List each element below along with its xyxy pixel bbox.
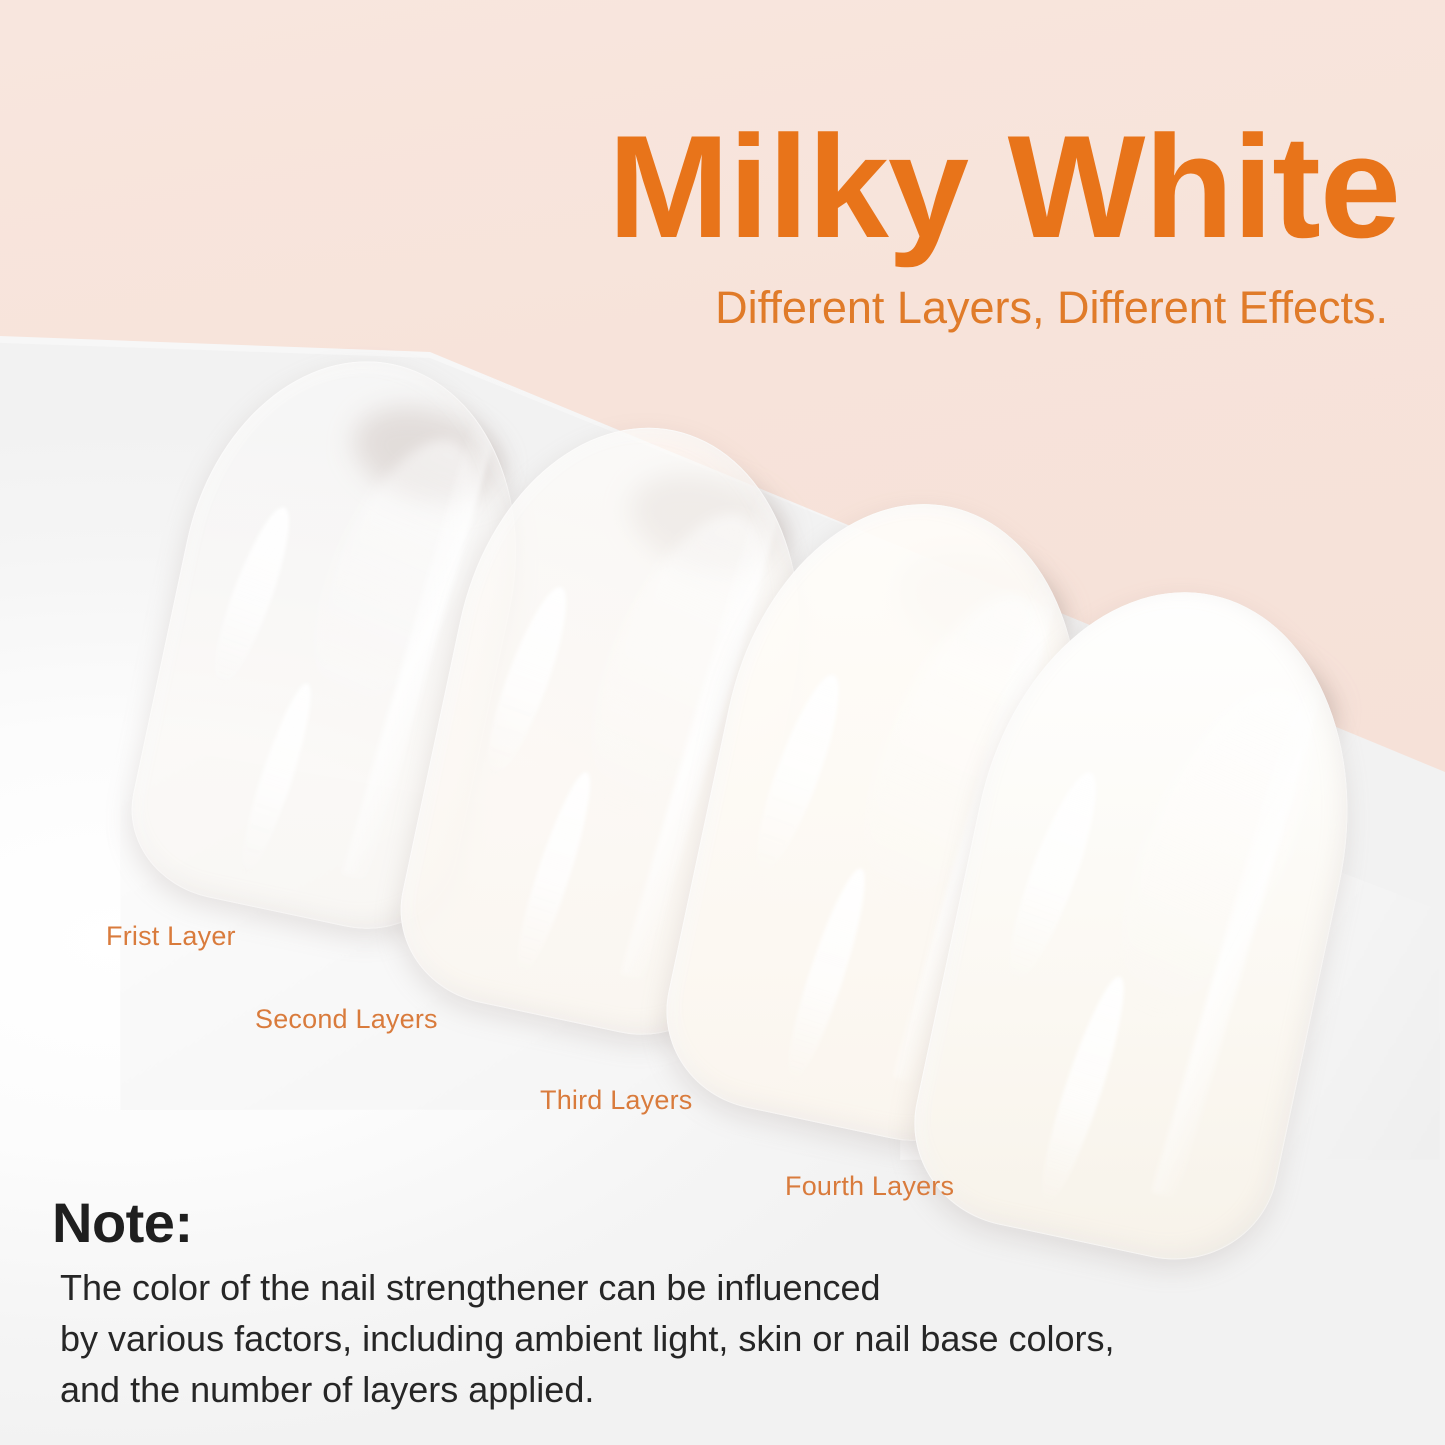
nail-edge-sheen-4 — [1152, 654, 1331, 1199]
layer-label-third: Third Layers — [540, 1085, 692, 1116]
layer-label-first: Frist Layer — [106, 921, 236, 952]
nail-gloss-highlight-2a — [474, 581, 580, 783]
nail-gloss-soft-4 — [1082, 663, 1349, 1038]
nail-gloss-highlight-1a — [201, 501, 302, 693]
note-heading: Note: — [52, 1190, 193, 1255]
nail-gloss-highlight-4a — [994, 765, 1111, 989]
nail-gloss-highlight-3b — [775, 864, 877, 1088]
nail-swatch-stage — [0, 0, 1445, 1445]
nail-gloss-highlight-3a — [742, 668, 853, 880]
layer-label-fourth: Fourth Layers — [785, 1171, 954, 1202]
nail-gloss-highlight-1b — [231, 679, 321, 878]
nail-gloss-highlight-4b — [1028, 971, 1136, 1210]
layer-label-second: Second Layers — [255, 1004, 438, 1035]
nail-gloss-highlight-2b — [505, 767, 602, 981]
product-infographic: Milky White Different Layers, Different … — [0, 0, 1445, 1445]
note-body-text: The color of the nail strengthener can b… — [60, 1262, 1380, 1415]
